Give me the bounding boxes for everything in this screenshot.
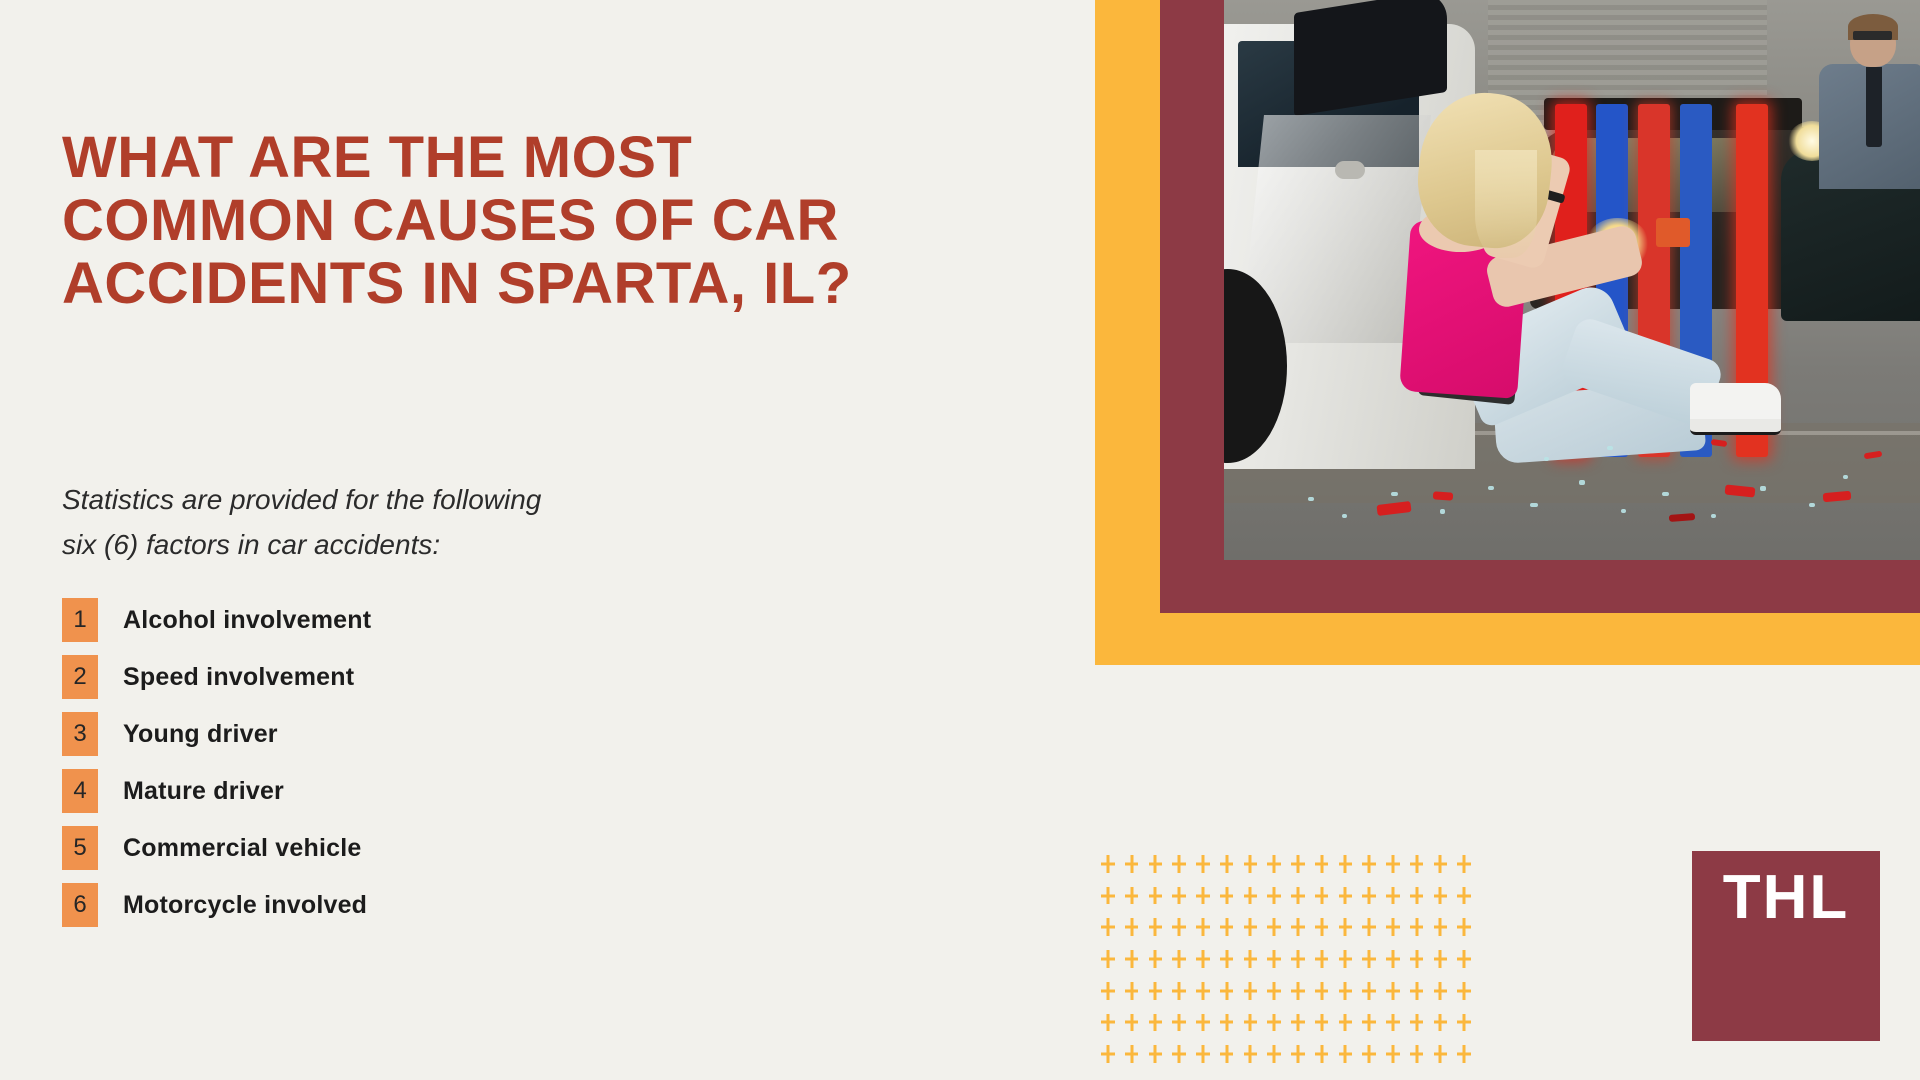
factor-number-badge: 5 [62, 826, 98, 870]
plus-icon [1381, 911, 1405, 943]
plus-icon [1334, 911, 1358, 943]
glass-shard [1530, 503, 1538, 507]
plus-icon [1239, 1007, 1263, 1039]
factor-list: 1 Alcohol involvement 2 Speed involvemen… [62, 597, 762, 939]
plus-icon [1286, 880, 1310, 912]
plus-icon [1167, 911, 1191, 943]
glass-shard [1621, 509, 1626, 513]
plus-icon [1357, 1038, 1381, 1070]
list-item: 2 Speed involvement [62, 654, 762, 700]
plus-icon [1096, 911, 1120, 943]
plus-icon [1191, 848, 1215, 880]
glass-shard [1579, 480, 1585, 485]
slide-canvas: WHAT ARE THE MOST COMMON CAUSES OF CAR A… [0, 0, 1920, 1080]
plus-icon [1286, 943, 1310, 975]
plus-icon [1452, 911, 1476, 943]
plus-icon [1096, 1038, 1120, 1070]
plus-icon [1096, 943, 1120, 975]
plus-icon [1215, 1038, 1239, 1070]
plus-grid-decoration [1096, 848, 1476, 1070]
plus-icon [1262, 911, 1286, 943]
factor-number-badge: 3 [62, 712, 98, 756]
plus-icon [1357, 880, 1381, 912]
plus-icon [1262, 848, 1286, 880]
plus-icon [1215, 880, 1239, 912]
plus-icon [1120, 943, 1144, 975]
glass-shard [1607, 446, 1613, 450]
plus-icon [1120, 911, 1144, 943]
glass-shard [1440, 509, 1445, 514]
plus-icon [1096, 1007, 1120, 1039]
factor-label: Motorcycle involved [123, 891, 367, 920]
plus-icon [1405, 880, 1429, 912]
plus-icon [1144, 1038, 1168, 1070]
plus-icon [1262, 975, 1286, 1007]
plus-icon [1357, 943, 1381, 975]
plus-icon [1381, 848, 1405, 880]
list-item: 4 Mature driver [62, 768, 762, 814]
plus-icon [1381, 1038, 1405, 1070]
plus-icon [1310, 911, 1334, 943]
plus-icon [1191, 943, 1215, 975]
plus-icon [1286, 1038, 1310, 1070]
plus-icon [1144, 911, 1168, 943]
white-car-door-handle [1335, 161, 1365, 179]
plus-icon [1120, 1038, 1144, 1070]
woman-hair-strand [1475, 150, 1538, 258]
plus-icon [1405, 1007, 1429, 1039]
factor-number-badge: 2 [62, 655, 98, 699]
plus-icon [1120, 880, 1144, 912]
plus-icon [1334, 975, 1358, 1007]
factor-label: Mature driver [123, 777, 284, 806]
plus-icon [1096, 975, 1120, 1007]
plus-icon [1239, 943, 1263, 975]
plus-icon [1215, 943, 1239, 975]
plus-icon [1286, 975, 1310, 1007]
plus-icon [1215, 848, 1239, 880]
list-item: 5 Commercial vehicle [62, 825, 762, 871]
plus-icon [1381, 975, 1405, 1007]
plus-icon [1167, 943, 1191, 975]
plus-icon [1286, 911, 1310, 943]
plus-icon [1429, 975, 1453, 1007]
plus-icon [1167, 880, 1191, 912]
plus-icon [1405, 975, 1429, 1007]
factor-label: Speed involvement [123, 663, 354, 692]
plus-icon [1452, 880, 1476, 912]
page-title: WHAT ARE THE MOST COMMON CAUSES OF CAR A… [62, 126, 902, 315]
plus-icon [1144, 880, 1168, 912]
police-officer-tie [1866, 67, 1882, 147]
plus-icon [1262, 943, 1286, 975]
plus-icon [1429, 1038, 1453, 1070]
plus-icon [1310, 848, 1334, 880]
plus-icon [1144, 975, 1168, 1007]
plus-icon [1096, 848, 1120, 880]
photo-scene [1224, 0, 1920, 560]
plus-icon [1429, 880, 1453, 912]
plus-icon [1405, 848, 1429, 880]
factor-number-badge: 4 [62, 769, 98, 813]
plus-icon [1215, 911, 1239, 943]
plus-icon [1429, 848, 1453, 880]
plus-icon [1120, 975, 1144, 1007]
plus-icon [1452, 975, 1476, 1007]
woman-sneaker-sole [1690, 419, 1780, 435]
taillight-fragment [1433, 491, 1454, 500]
list-item: 3 Young driver [62, 711, 762, 757]
glass-shard [1843, 475, 1848, 479]
list-item: 6 Motorcycle involved [62, 882, 762, 928]
plus-icon [1215, 975, 1239, 1007]
plus-icon [1239, 1038, 1263, 1070]
plus-icon [1310, 1007, 1334, 1039]
glass-shard [1809, 503, 1815, 507]
police-officer-sunglasses [1853, 31, 1892, 40]
plus-icon [1167, 975, 1191, 1007]
plus-icon [1144, 1007, 1168, 1039]
plus-icon [1167, 1038, 1191, 1070]
factor-label: Young driver [123, 720, 278, 749]
glass-shard [1308, 497, 1314, 501]
plus-icon [1452, 848, 1476, 880]
plus-icon [1239, 911, 1263, 943]
plus-icon [1429, 943, 1453, 975]
plus-icon [1405, 911, 1429, 943]
plus-icon [1357, 848, 1381, 880]
factor-number-badge: 1 [62, 598, 98, 642]
plus-icon [1191, 911, 1215, 943]
plus-icon [1096, 880, 1120, 912]
plus-icon [1120, 1007, 1144, 1039]
plus-icon [1357, 975, 1381, 1007]
factor-label: Commercial vehicle [123, 834, 361, 863]
plus-icon [1167, 848, 1191, 880]
plus-icon [1191, 975, 1215, 1007]
plus-icon [1381, 1007, 1405, 1039]
plus-icon [1286, 1007, 1310, 1039]
plus-icon [1167, 1007, 1191, 1039]
plus-icon [1262, 1038, 1286, 1070]
plus-icon [1144, 848, 1168, 880]
thl-logo-text: THL [1692, 867, 1880, 929]
plus-icon [1334, 1038, 1358, 1070]
plus-icon [1239, 848, 1263, 880]
glass-shard [1760, 486, 1766, 491]
plus-icon [1452, 1038, 1476, 1070]
plus-icon [1310, 1038, 1334, 1070]
subtitle-text: Statistics are provided for the followin… [62, 477, 782, 567]
plus-icon [1120, 848, 1144, 880]
plus-icon [1334, 848, 1358, 880]
plus-icon [1334, 1007, 1358, 1039]
plus-icon [1191, 880, 1215, 912]
taillight-fragment [1822, 490, 1851, 501]
plus-icon [1405, 1038, 1429, 1070]
plus-icon [1452, 943, 1476, 975]
factor-number-badge: 6 [62, 883, 98, 927]
plus-icon [1429, 911, 1453, 943]
plus-icon [1310, 975, 1334, 1007]
plus-icon [1381, 943, 1405, 975]
left-content-panel: WHAT ARE THE MOST COMMON CAUSES OF CAR A… [0, 0, 1095, 1080]
factor-label: Alcohol involvement [123, 606, 371, 635]
plus-icon [1310, 943, 1334, 975]
plus-icon [1405, 943, 1429, 975]
plus-icon [1452, 1007, 1476, 1039]
plus-icon [1239, 880, 1263, 912]
list-item: 1 Alcohol involvement [62, 597, 762, 643]
plus-icon [1191, 1007, 1215, 1039]
plus-icon [1286, 848, 1310, 880]
plus-icon [1310, 880, 1334, 912]
plus-icon [1334, 880, 1358, 912]
plus-icon [1262, 1007, 1286, 1039]
accident-scene-photo [1224, 0, 1920, 560]
plus-icon [1429, 1007, 1453, 1039]
plus-icon [1357, 911, 1381, 943]
glass-shard [1391, 492, 1398, 496]
thl-logo[interactable]: THL [1692, 851, 1880, 1041]
plus-icon [1262, 880, 1286, 912]
plus-icon [1357, 1007, 1381, 1039]
police-taillamp [1656, 218, 1691, 247]
glass-shard [1662, 492, 1669, 496]
plus-icon [1215, 1007, 1239, 1039]
plus-icon [1334, 943, 1358, 975]
plus-icon [1191, 1038, 1215, 1070]
plus-icon [1381, 880, 1405, 912]
plus-icon [1239, 975, 1263, 1007]
plus-icon [1144, 943, 1168, 975]
